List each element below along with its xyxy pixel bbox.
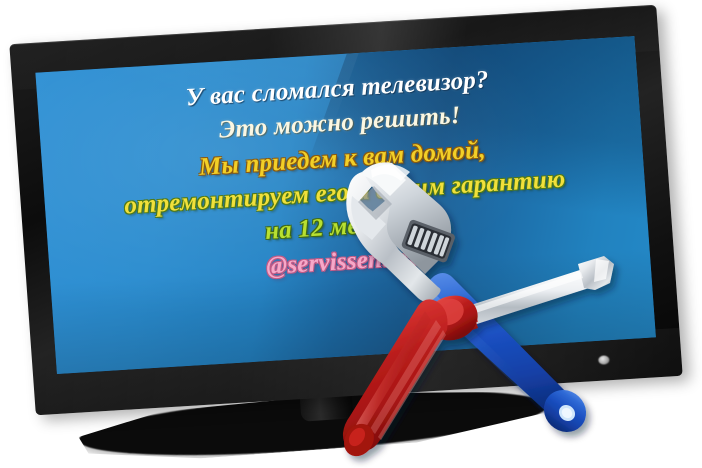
advertisement-text-block: У вас сломался телевизор? Это можно реши… xyxy=(35,36,656,374)
television: У вас сломался телевизор? Это можно реши… xyxy=(0,0,702,468)
tv-screen: У вас сломался телевизор? Это можно реши… xyxy=(35,36,656,374)
power-indicator-light-icon xyxy=(598,355,610,365)
ad-body-line-2: отремонтируем его и дадим гарантию xyxy=(117,166,572,219)
tv-bezel: У вас сломался телевизор? Это можно реши… xyxy=(9,5,682,416)
ad-warranty-line: на 12 месяцев! xyxy=(258,209,436,245)
ad-social-handle: @servissentrrus xyxy=(259,243,439,279)
ad-subheadline: Это можно решить! xyxy=(212,103,467,143)
advertisement-image: У вас сломался телевизор? Это можно реши… xyxy=(0,0,702,468)
